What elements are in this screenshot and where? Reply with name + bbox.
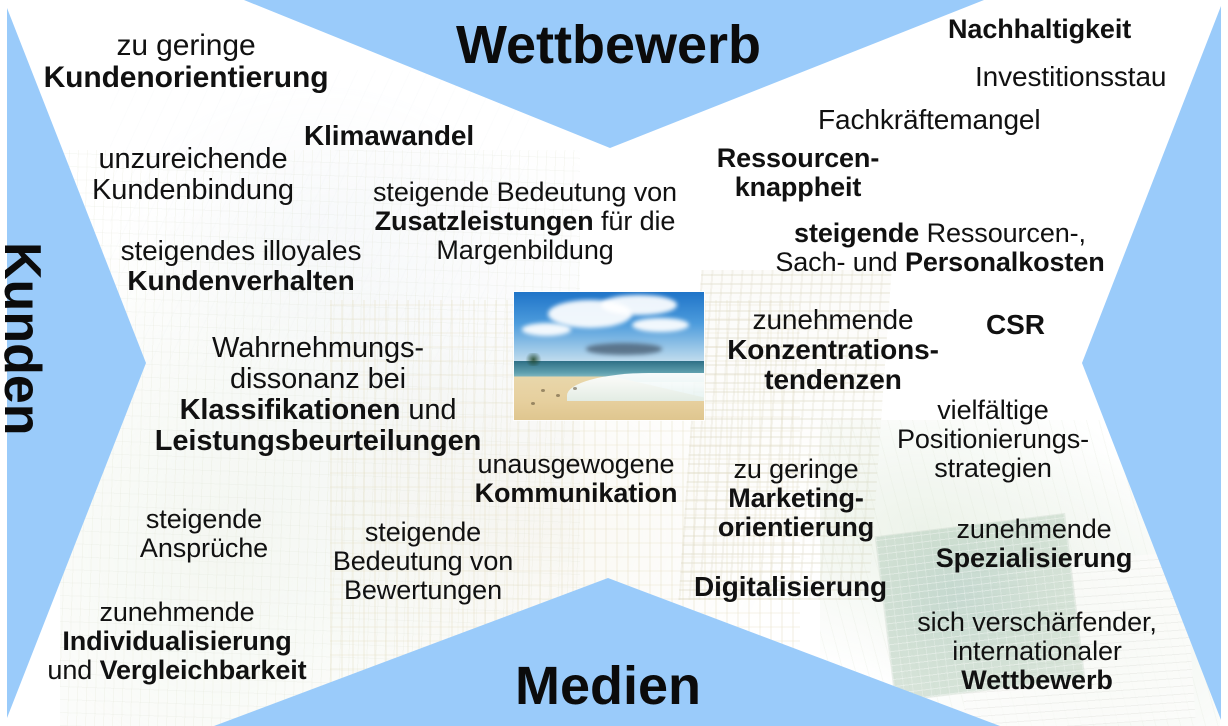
word-line: vielfältige xyxy=(895,396,1091,425)
word-line: Ressourcen- xyxy=(702,144,894,173)
word-line: Margenbildung xyxy=(360,236,690,265)
word-line: steigende xyxy=(114,505,294,534)
word-line: steigendes illoyales xyxy=(106,236,376,266)
word-kundenbindung: unzureichende Kundenbindung xyxy=(68,144,318,206)
wordcloud-canvas: Wettbewerb Management Medien Kunden zu g… xyxy=(0,0,1228,726)
axis-label-medien: Medien xyxy=(515,655,701,717)
word-line: steigende Ressourcen-, xyxy=(768,219,1112,248)
word-spezialisierung: zunehmende Spezialisierung xyxy=(930,515,1138,573)
word-line: sich verschärfender, xyxy=(908,608,1166,637)
word-line: Bewertungen xyxy=(318,576,528,605)
word-ressourcenknappheit: Ressourcen- knappheit xyxy=(702,144,894,202)
word-line: zunehmende xyxy=(22,598,332,627)
word-line: knappheit xyxy=(702,173,894,202)
word-line: Leistungsbeurteilungen xyxy=(118,426,518,457)
beach-palm xyxy=(524,353,543,366)
word-line: Wettbewerb xyxy=(908,666,1166,695)
beach-dark-cloud xyxy=(586,343,662,355)
word-line: unausgewogene xyxy=(466,450,686,479)
word-kommunikation: unausgewogene Kommunikation xyxy=(466,450,686,508)
word-positionierungsstrategien: vielfältige Positionierungs- strategien xyxy=(895,396,1091,483)
word-line: steigende xyxy=(318,518,528,547)
word-line: Individualisierung xyxy=(22,627,332,656)
word-csr: CSR xyxy=(986,310,1045,340)
word-line: orientierung xyxy=(708,513,884,542)
beach-cloud xyxy=(522,323,571,336)
word-personalkosten: steigende Ressourcen-, Sach- und Persona… xyxy=(768,219,1112,277)
word-line: Sach- und Personalkosten xyxy=(768,248,1112,277)
word-line: zunehmende xyxy=(714,305,952,335)
axis-label-wettbewerb: Wettbewerb xyxy=(456,14,761,76)
word-line: strategien xyxy=(895,454,1091,483)
word-line: tendenzen xyxy=(714,365,952,395)
word-line: dissonanz bei xyxy=(118,364,518,395)
word-line: Kommunikation xyxy=(466,479,686,508)
word-wahrnehmungsdissonanz: Wahrnehmungs- dissonanz bei Klassifikati… xyxy=(118,333,518,457)
word-line: Klassifikationen und xyxy=(118,395,518,426)
word-digitalisierung: Digitalisierung xyxy=(694,572,887,602)
word-line: zu geringe xyxy=(708,455,884,484)
word-line: Kundenbindung xyxy=(68,175,318,206)
word-line: Ansprüche xyxy=(114,534,294,563)
word-ansprueche: steigende Ansprüche xyxy=(114,505,294,563)
word-line: Bedeutung von xyxy=(318,547,528,576)
axis-label-kunden: Kunden xyxy=(0,242,52,436)
word-klimawandel: Klimawandel xyxy=(304,121,474,151)
beach-pebble xyxy=(573,387,577,390)
word-marketingorientierung: zu geringe Marketing- orientierung xyxy=(708,455,884,542)
word-line: Zusatzleistungen für die xyxy=(360,207,690,236)
word-line: zu geringe xyxy=(26,30,346,62)
word-line: und Vergleichbarkeit xyxy=(22,656,332,685)
word-line: unzureichende xyxy=(68,144,318,175)
word-line: Kundenorientierung xyxy=(26,62,346,94)
axis-label-management: Management xyxy=(1224,286,1228,604)
word-kundenverhalten: steigendes illoyales Kundenverhalten xyxy=(106,236,376,296)
center-beach-photo xyxy=(514,292,704,420)
word-konzentrationstendenzen: zunehmende Konzentrations- tendenzen xyxy=(714,305,952,395)
word-bewertungen: steigende Bedeutung von Bewertungen xyxy=(318,518,528,605)
word-line: steigende Bedeutung von xyxy=(360,178,690,207)
word-kundenorientierung: zu geringe Kundenorientierung xyxy=(26,30,346,94)
word-fachkraeftemangel: Fachkräftemangel xyxy=(818,105,1041,135)
word-individualisierung: zunehmende Individualisierung und Vergle… xyxy=(22,598,332,685)
word-line: Kundenverhalten xyxy=(106,266,376,296)
word-line: Marketing- xyxy=(708,484,884,513)
word-zusatzleistungen: steigende Bedeutung von Zusatzleistungen… xyxy=(360,178,690,265)
word-line: Positionierungs- xyxy=(895,425,1091,454)
word-internationaler-wettbewerb: sich verschärfender, internationaler Wet… xyxy=(908,608,1166,695)
word-line: Konzentrations- xyxy=(714,335,952,365)
word-investitionsstau: Investitionsstau xyxy=(975,62,1166,92)
beach-cloud xyxy=(601,295,677,315)
word-nachhaltigkeit: Nachhaltigkeit xyxy=(948,15,1131,44)
word-line: internationaler xyxy=(908,637,1166,666)
word-line: Wahrnehmungs- xyxy=(118,333,518,364)
word-line: Spezialisierung xyxy=(930,544,1138,573)
beach-cloud xyxy=(632,318,689,332)
word-line: zunehmende xyxy=(930,515,1138,544)
